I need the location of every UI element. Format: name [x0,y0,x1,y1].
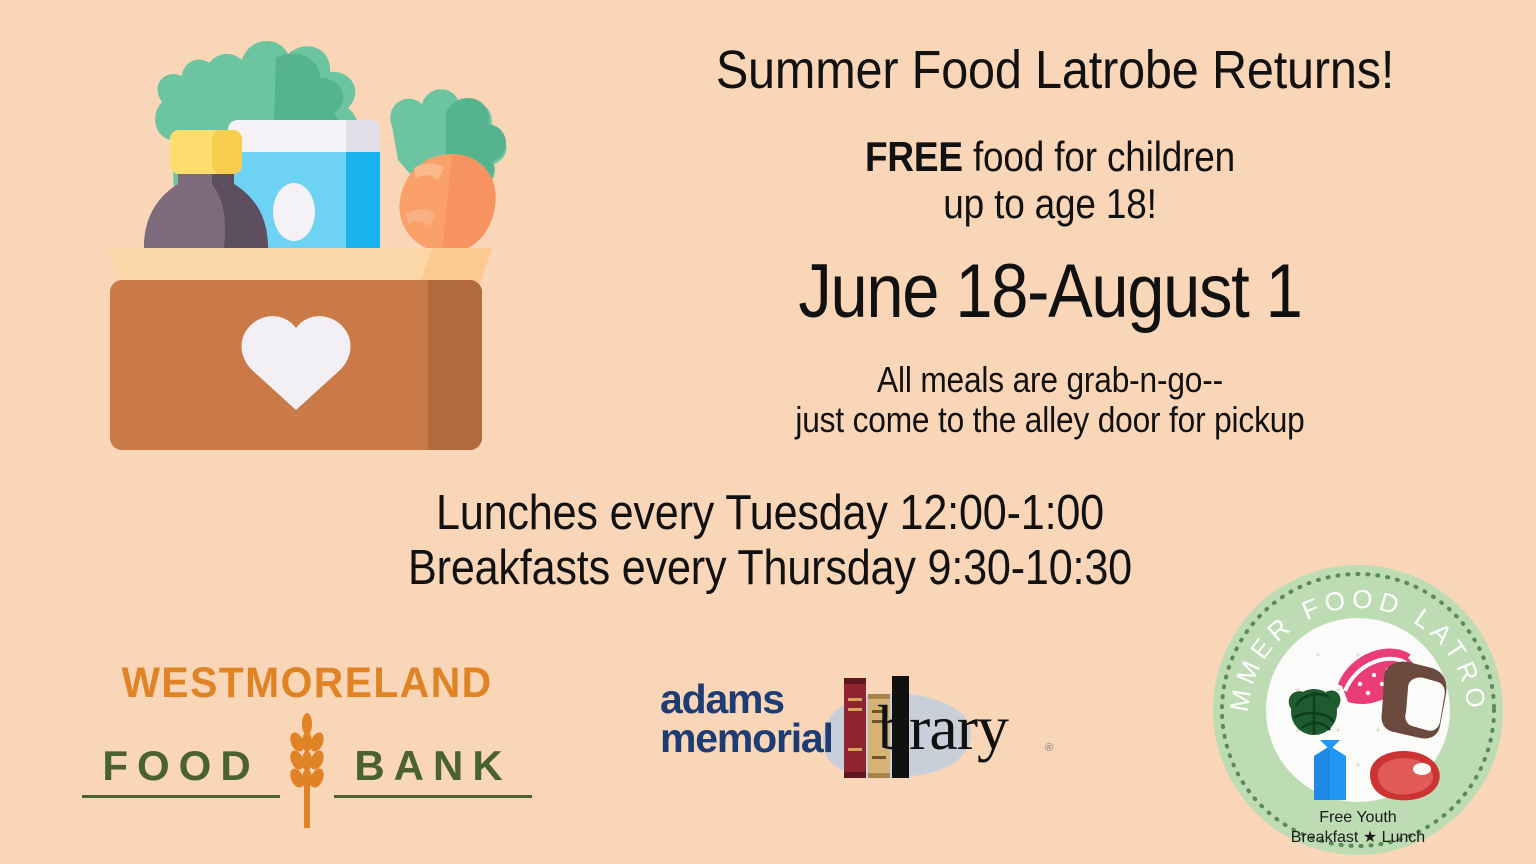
steak-icon [1370,751,1440,800]
summer-food-latrobe-seal: SUMMER FOOD LATROBE [1208,560,1508,860]
free-rest: food for children up to age 18! [943,133,1235,227]
poster-canvas: Summer Food Latrobe Returns! FREE food f… [0,0,1536,864]
wfb-word-food: FOOD [82,745,280,787]
wfb-rule-right [334,795,532,798]
wheat-stalk-icon [284,712,330,830]
registered-trademark-icon: ® [1045,742,1053,754]
adams-memorial-library-logo: adams memorial brary ® [660,676,1080,786]
bread-loaf-icon [1382,662,1447,739]
schedule-lines: Lunches every Tuesday 12:00-1:00 Breakfa… [224,486,1315,596]
wfb-word-bank: BANK [334,745,532,787]
wfb-rule-left [82,795,280,798]
free-emphasis: FREE [865,133,963,180]
seal-bottom-line-1: Free Youth [1319,809,1396,826]
wfb-wordmark-food-bank: FOOD BANK [82,712,532,830]
aml-word-adams: adams [660,680,833,719]
aml-word-brary: brary [878,696,1008,760]
aml-wordmark: adams memorial [660,680,833,759]
food-donation-box-illustration [80,20,520,460]
westmoreland-food-bank-logo: WESTMORELAND FOOD [82,662,532,802]
wfb-wordmark-westmoreland: WESTMORELAND [93,662,521,705]
date-range: June 18-August 1 [654,252,1446,331]
aml-word-memorial: memorial [660,719,833,758]
seal-bottom-after: Lunch [1377,829,1425,846]
star-icon: ★ [1363,829,1377,846]
cardboard-box [108,248,492,450]
seal-bottom-before: Breakfast [1291,829,1363,846]
seal-bottom-line-2: Breakfast ★ Lunch [1291,829,1425,846]
headline: Summer Food Latrobe Returns! [610,42,1501,98]
grab-n-go-note: All meals are grab-n-go-- just come to t… [654,360,1446,441]
free-food-line: FREE food for children up to age 18! [654,133,1446,227]
